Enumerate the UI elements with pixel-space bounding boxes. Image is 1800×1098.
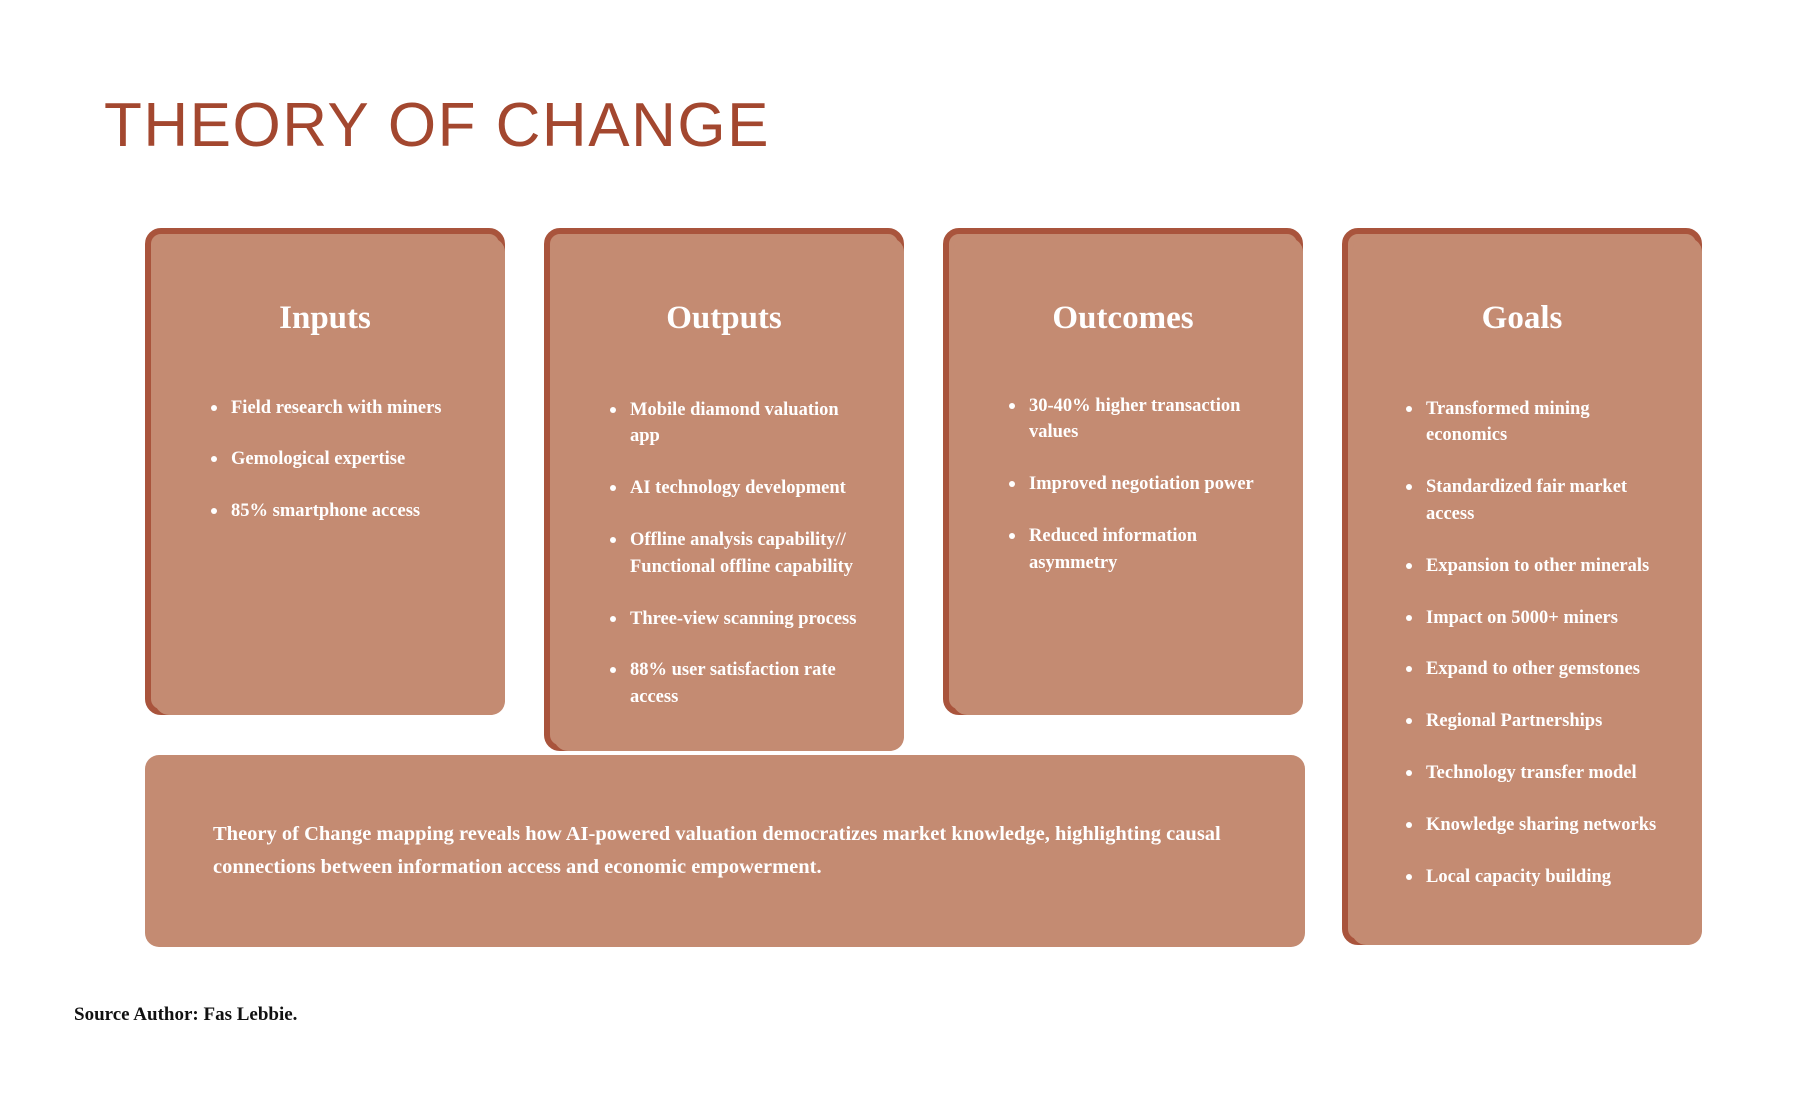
- column-card-inputs: Inputs Field research with miners Gemolo…: [145, 228, 505, 715]
- theory-of-change-slide: THEORY OF CHANGE Inputs Field research w…: [0, 0, 1800, 1098]
- list-item: Regional Partnerships: [1404, 708, 1670, 735]
- list-item: Three-view scanning process: [608, 606, 872, 633]
- column-card-outcomes: Outcomes 30-40% higher transaction value…: [943, 228, 1303, 715]
- bullet-list-outcomes: 30-40% higher transaction values Improve…: [949, 393, 1297, 577]
- column-heading-outputs: Outputs: [550, 299, 898, 339]
- bullet-list-goals: Transformed mining economics Standardize…: [1348, 396, 1696, 891]
- column-heading-goals: Goals: [1348, 299, 1696, 339]
- list-item: 30-40% higher transaction values: [1007, 393, 1271, 447]
- list-item: Technology transfer model: [1404, 760, 1670, 787]
- list-item: Field research with miners: [209, 395, 465, 422]
- list-item: Standardized fair market access: [1404, 474, 1670, 528]
- column-card-goals: Goals Transformed mining economics Stand…: [1342, 228, 1702, 945]
- list-item: Reduced information asymmetry: [1007, 523, 1271, 577]
- summary-text: Theory of Change mapping reveals how AI-…: [145, 818, 1305, 884]
- list-item: Transformed mining economics: [1404, 396, 1670, 450]
- list-item: Expand to other gemstones: [1404, 656, 1670, 683]
- summary-banner: Theory of Change mapping reveals how AI-…: [145, 755, 1305, 947]
- bullet-list-inputs: Field research with miners Gemological e…: [151, 395, 499, 525]
- list-item: Gemological expertise: [209, 446, 465, 473]
- page-title: THEORY OF CHANGE: [104, 92, 770, 160]
- list-item: 88% user satisfaction rate access: [608, 657, 872, 711]
- source-attribution: Source Author: Fas Lebbie.: [74, 1004, 297, 1026]
- column-heading-outcomes: Outcomes: [949, 299, 1297, 339]
- list-item: Mobile diamond valuation app: [608, 397, 872, 451]
- list-item: Offline analysis capability// Functional…: [608, 527, 872, 581]
- list-item: AI technology development: [608, 475, 872, 502]
- list-item: Local capacity building: [1404, 864, 1670, 891]
- list-item: Knowledge sharing networks: [1404, 812, 1670, 839]
- column-heading-inputs: Inputs: [151, 299, 499, 339]
- list-item: Impact on 5000+ miners: [1404, 605, 1670, 632]
- list-item: 85% smartphone access: [209, 498, 465, 525]
- bullet-list-outputs: Mobile diamond valuation app AI technolo…: [550, 397, 898, 712]
- list-item: Expansion to other minerals: [1404, 553, 1670, 580]
- column-card-outputs: Outputs Mobile diamond valuation app AI …: [544, 228, 904, 751]
- list-item: Improved negotiation power: [1007, 471, 1271, 498]
